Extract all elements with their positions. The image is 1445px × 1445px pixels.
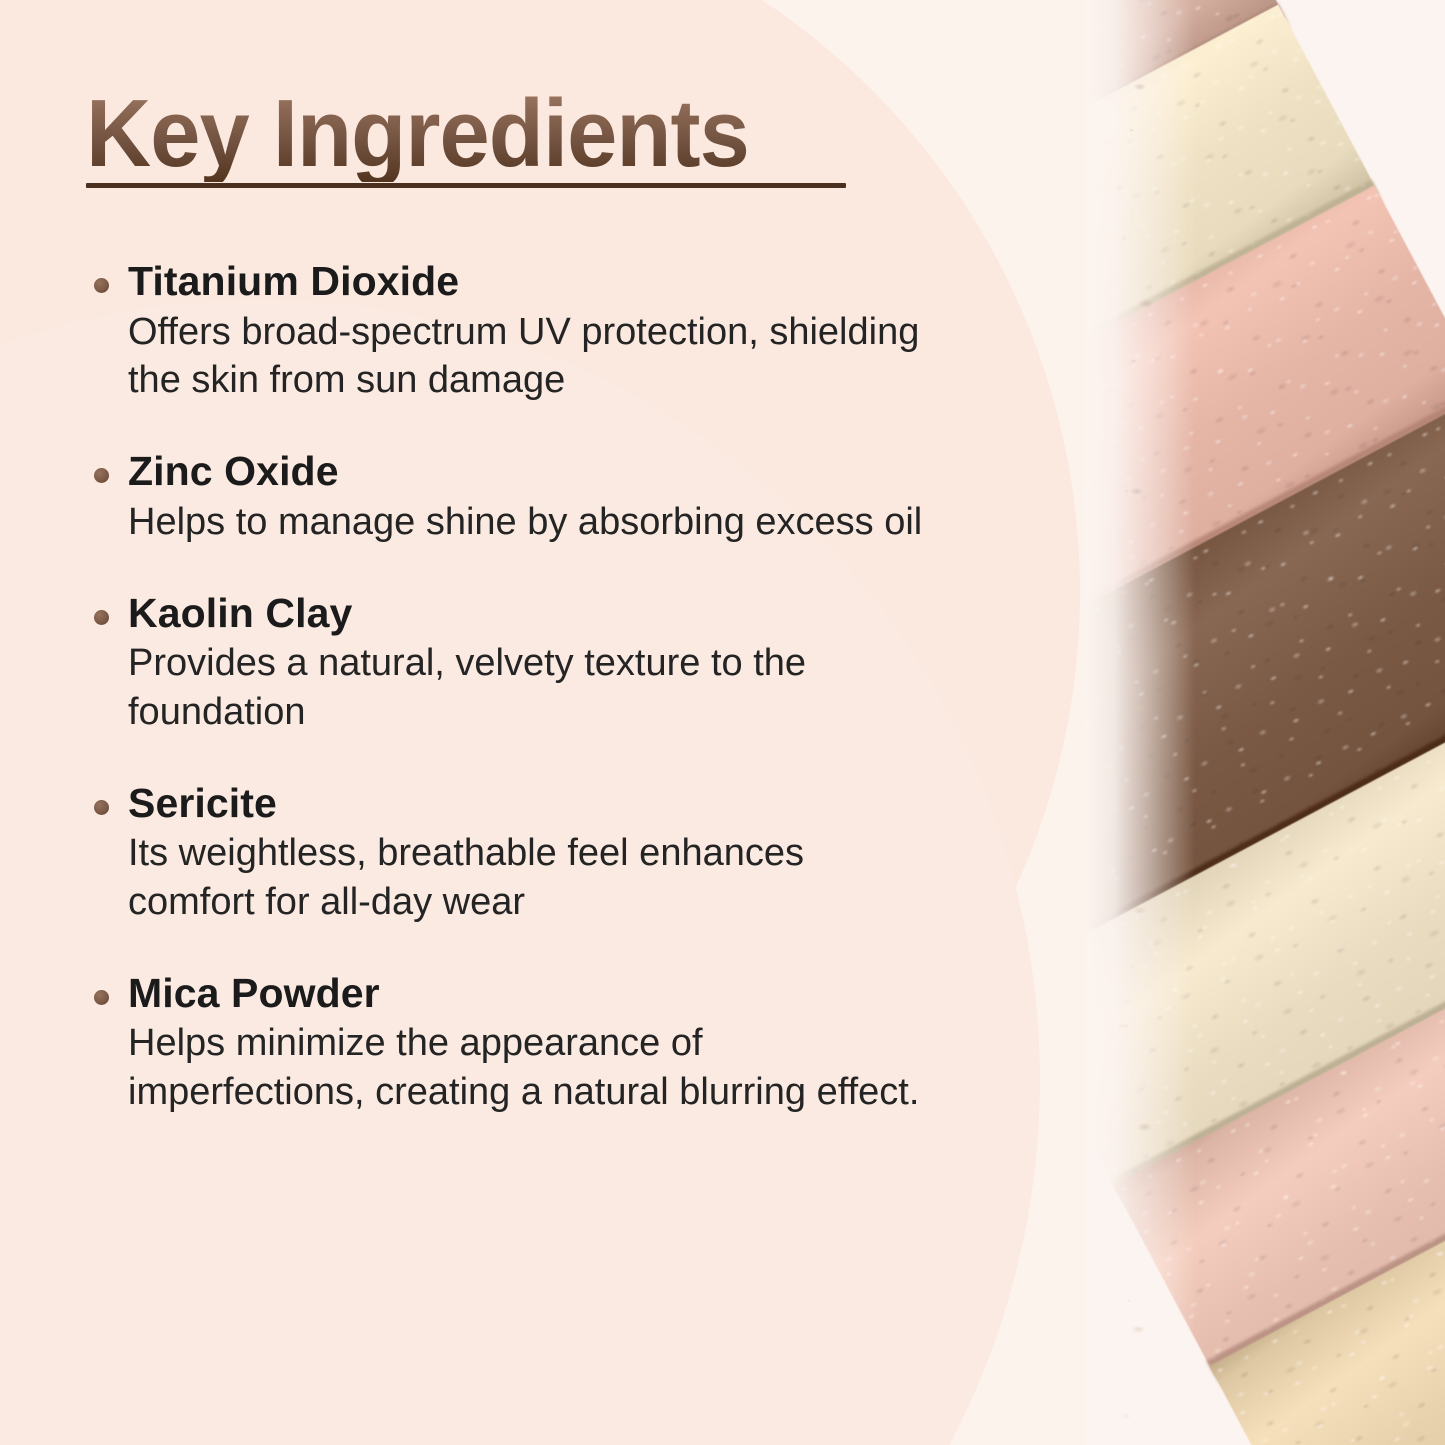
ingredient-name: Sericite [128, 780, 1046, 828]
ingredient-description: Offers broad-spectrum UV protection, shi… [128, 308, 928, 405]
powder-swatch-image [1085, 0, 1445, 1445]
page-title-wrapper: Key Ingredients [86, 86, 986, 182]
powder-swatch-bands [1085, 0, 1445, 1445]
bullet-dot-icon [94, 278, 109, 293]
ingredient-description: Provides a natural, velvety texture to t… [128, 639, 928, 736]
ingredient-name: Kaolin Clay [128, 590, 1046, 638]
ingredient-list: Titanium Dioxide Offers broad-spectrum U… [86, 258, 1046, 1116]
bullet-dot-icon [94, 800, 109, 815]
list-item: Kaolin Clay Provides a natural, velvety … [86, 590, 1046, 736]
content-column: Key Ingredients Titanium Dioxide Offers … [0, 0, 1100, 1445]
ingredient-description: Its weightless, breathable feel enhances… [128, 829, 928, 926]
page-title-underline [86, 183, 846, 188]
list-item: Titanium Dioxide Offers broad-spectrum U… [86, 258, 1046, 404]
ingredient-description: Helps minimize the appearance of imperfe… [128, 1019, 928, 1116]
page-title: Key Ingredients [86, 86, 749, 182]
infographic-canvas: Key Ingredients Titanium Dioxide Offers … [0, 0, 1445, 1445]
list-item: Sericite Its weightless, breathable feel… [86, 780, 1046, 926]
bullet-dot-icon [94, 468, 109, 483]
ingredient-name: Zinc Oxide [128, 448, 1046, 496]
ingredient-description: Helps to manage shine by absorbing exces… [128, 498, 928, 546]
ingredient-name: Titanium Dioxide [128, 258, 1046, 306]
ingredient-name: Mica Powder [128, 970, 1046, 1018]
bullet-dot-icon [94, 610, 109, 625]
bullet-dot-icon [94, 990, 109, 1005]
list-item: Zinc Oxide Helps to manage shine by abso… [86, 448, 1046, 546]
list-item: Mica Powder Helps minimize the appearanc… [86, 970, 1046, 1116]
